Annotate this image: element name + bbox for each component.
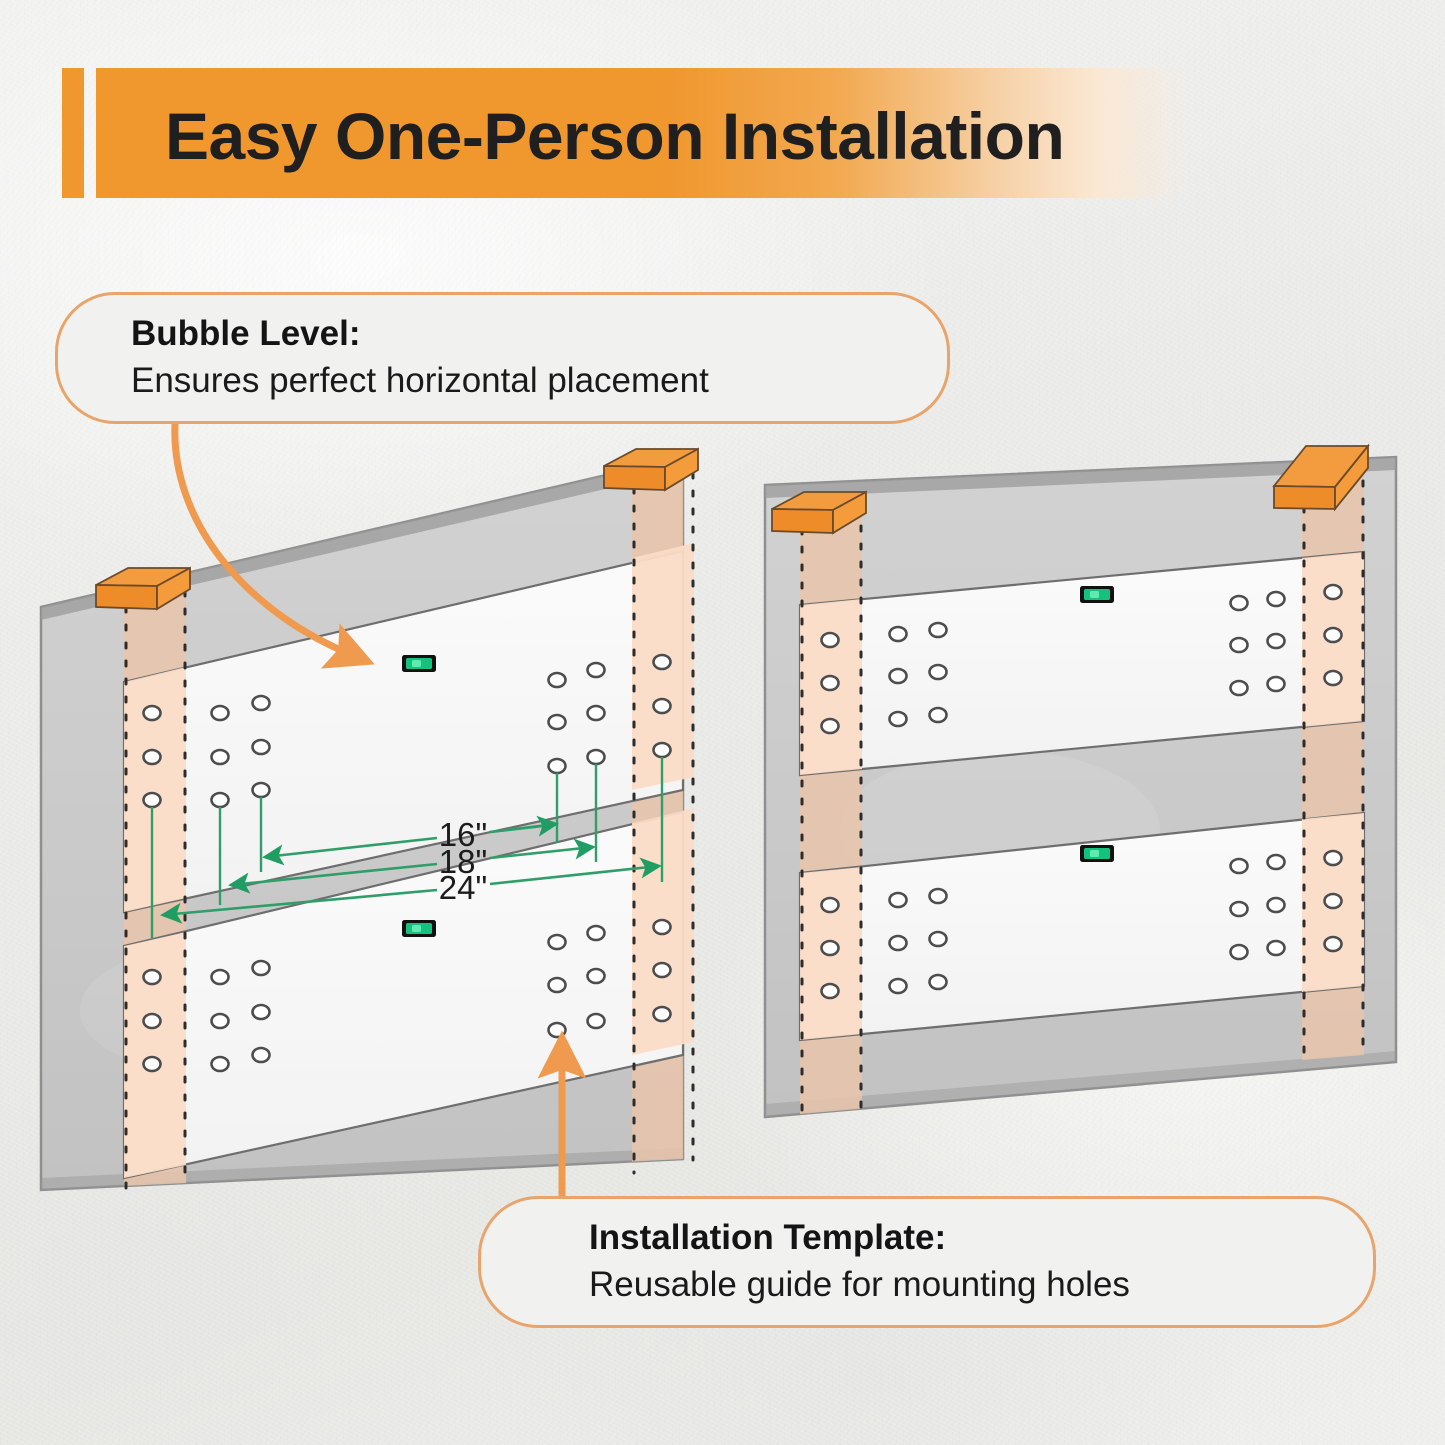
bubble-level-indicator-1 [402, 655, 436, 672]
header-banner: Easy One-Person Installation [0, 0, 1445, 230]
measurement-label-24: 24" [439, 869, 487, 906]
callout-installation-template-title: Installation Template: [589, 1220, 1373, 1256]
callout-bubble-level-title: Bubble Level: [131, 316, 947, 352]
bubble-level-indicator-4 [1080, 845, 1114, 862]
callout-bubble-level-subtitle: Ensures perfect horizontal placement [131, 363, 947, 399]
callout-installation-template: Installation Template: Reusable guide fo… [478, 1196, 1376, 1328]
bubble-level-indicator-3 [1080, 586, 1114, 603]
callout-bubble-level: Bubble Level: Ensures perfect horizontal… [55, 292, 950, 424]
page-title: Easy One-Person Installation [165, 96, 1165, 176]
banner-accent-tick [62, 68, 84, 198]
bubble-level-indicator-2 [402, 920, 436, 937]
callout-installation-template-subtitle: Reusable guide for mounting holes [589, 1267, 1373, 1303]
